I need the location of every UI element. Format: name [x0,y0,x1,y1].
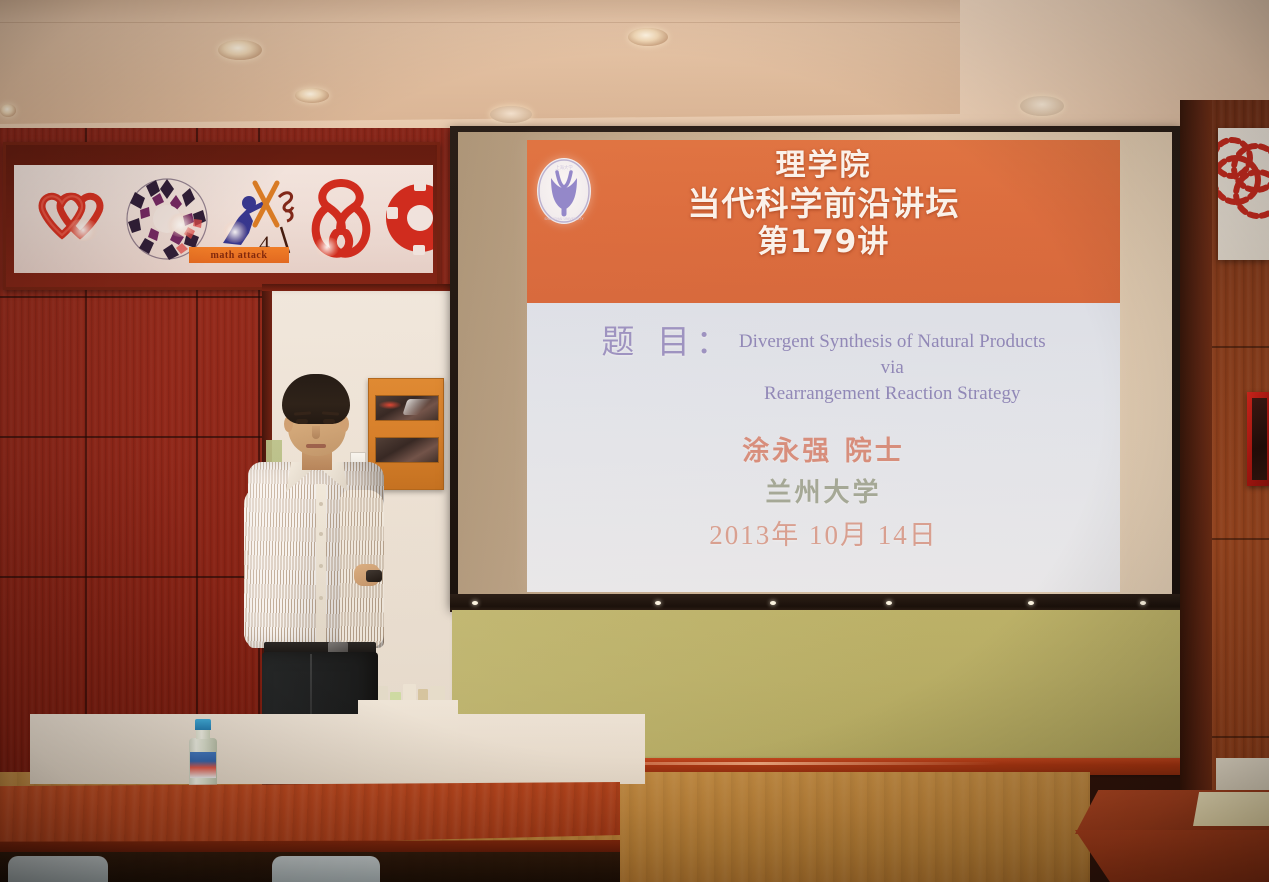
math-art-banner: 4 mat [3,142,440,290]
slide-header-line2: 当代科学前沿讲坛 [527,186,1120,222]
red-torus-donut-icon [382,177,433,259]
title-line1: Divergent Synthesis of Natural Products [739,329,1046,355]
slide-body: 题 目： Divergent Synthesis of Natural Prod… [527,303,1120,592]
downlight-icon [628,28,668,46]
red-celtic-knot-panel [1218,128,1269,260]
title-line2: via [739,355,1046,381]
downlight-icon [295,88,329,103]
door-header-trim [262,284,454,291]
slide-header-line3: 第179讲 [527,226,1120,259]
title-text: Divergent Synthesis of Natural Products … [739,329,1046,408]
table-grain [0,782,620,850]
bottle-cap [195,719,211,730]
slide-title-row: 题 目： Divergent Synthesis of Natural Prod… [527,325,1120,408]
slide-header-line1: 理学院 [527,150,1120,182]
front-riser-panel-right [358,700,458,786]
banner-inner: 4 mat [14,165,433,273]
right-wall-shadow-column [1180,100,1212,882]
right-desk [1075,790,1269,882]
right-desk-front [1075,830,1269,882]
speaker-affiliation: 兰州大学 [527,477,1120,510]
downlight-icon [1020,96,1064,116]
lecture-date: 2013年 10月 14日 [527,519,1120,553]
speaker-name: 涂永强 院士 [527,435,1120,469]
bottle-label [190,752,216,778]
title-line3: Rearrangement Reaction Strategy [739,381,1046,407]
bottle-neck [196,729,210,739]
presenter-mouth [306,444,326,448]
downlight-icon [0,104,16,117]
downlight-icon [490,106,532,123]
downlight-icon [218,40,262,60]
math-attack-label: math attack [189,247,289,263]
presenter-hair [282,374,350,424]
panel-glint [402,399,433,415]
presenter-eye [323,419,335,424]
presenter-eye [296,419,308,424]
presenter-remote[interactable] [366,570,382,582]
table-edge [0,840,620,852]
red-trefoil-knot-icon [302,173,380,261]
speaker-block: 涂永强 院士 兰州大学 2013年 10月 14日 [527,435,1120,553]
slide-header-text: 理学院 当代科学前沿讲坛 第179讲 [527,150,1120,259]
title-label: 题 目： [601,325,735,360]
lecture-hall-scene: 4 mat [0,0,1269,882]
front-riser-panel [30,714,645,784]
red-knot-hearts-icon [32,183,110,255]
foreground-table [0,782,620,882]
red-framed-picture [1247,392,1269,486]
presentation-slide: 上海大学 SHANGHAI UNIVERSITY 理学院 当代科学前沿讲坛 第1… [527,140,1120,592]
paper-sheet [1193,792,1269,826]
presenter-nose [312,426,320,439]
picture-inner [1252,398,1267,480]
